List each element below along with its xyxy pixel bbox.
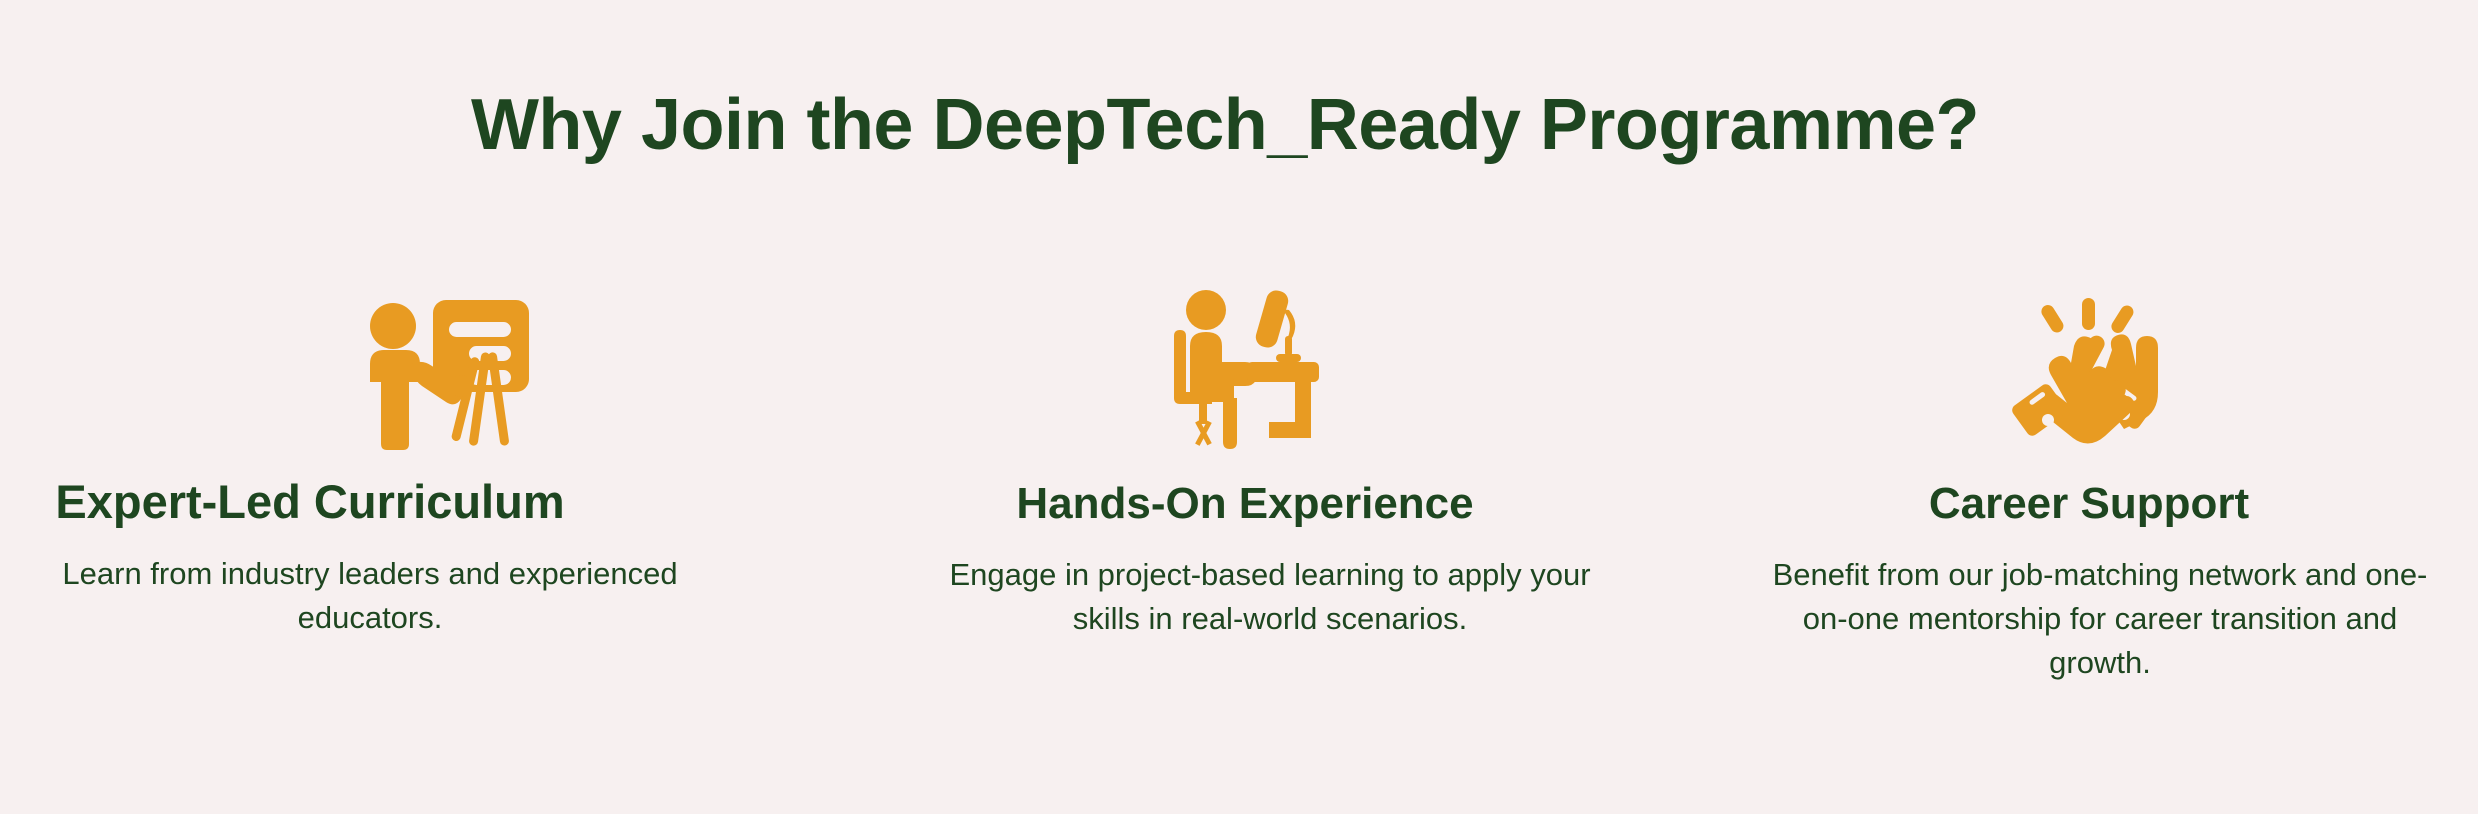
person-at-desk-computer-icon <box>760 280 1640 450</box>
feature-list: Expert-Led Curriculum Learn from industr… <box>0 280 2478 685</box>
feature-heading: Hands-On Experience <box>760 478 1640 531</box>
feature-description: Benefit from our job-matching network an… <box>1760 553 2440 685</box>
page-title: Why Join the DeepTech_Ready Programme? <box>0 86 2450 165</box>
feature-card-career-support: Career Support Benefit from our job-matc… <box>1640 280 2478 685</box>
feature-description: Learn from industry leaders and experien… <box>0 552 870 640</box>
why-join-section: Why Join the DeepTech_Ready Programme? <box>0 0 2478 814</box>
feature-description: Engage in project-based learning to appl… <box>920 553 1620 641</box>
feature-heading: Career Support <box>1640 478 2478 531</box>
high-five-hands-icon <box>1640 280 2478 450</box>
feature-card-expert-led-curriculum: Expert-Led Curriculum Learn from industr… <box>0 280 760 640</box>
feature-heading: Expert-Led Curriculum <box>0 474 760 530</box>
feature-card-hands-on-experience: Hands-On Experience Engage in project-ba… <box>760 280 1640 641</box>
presenter-flipchart-icon <box>0 280 760 450</box>
